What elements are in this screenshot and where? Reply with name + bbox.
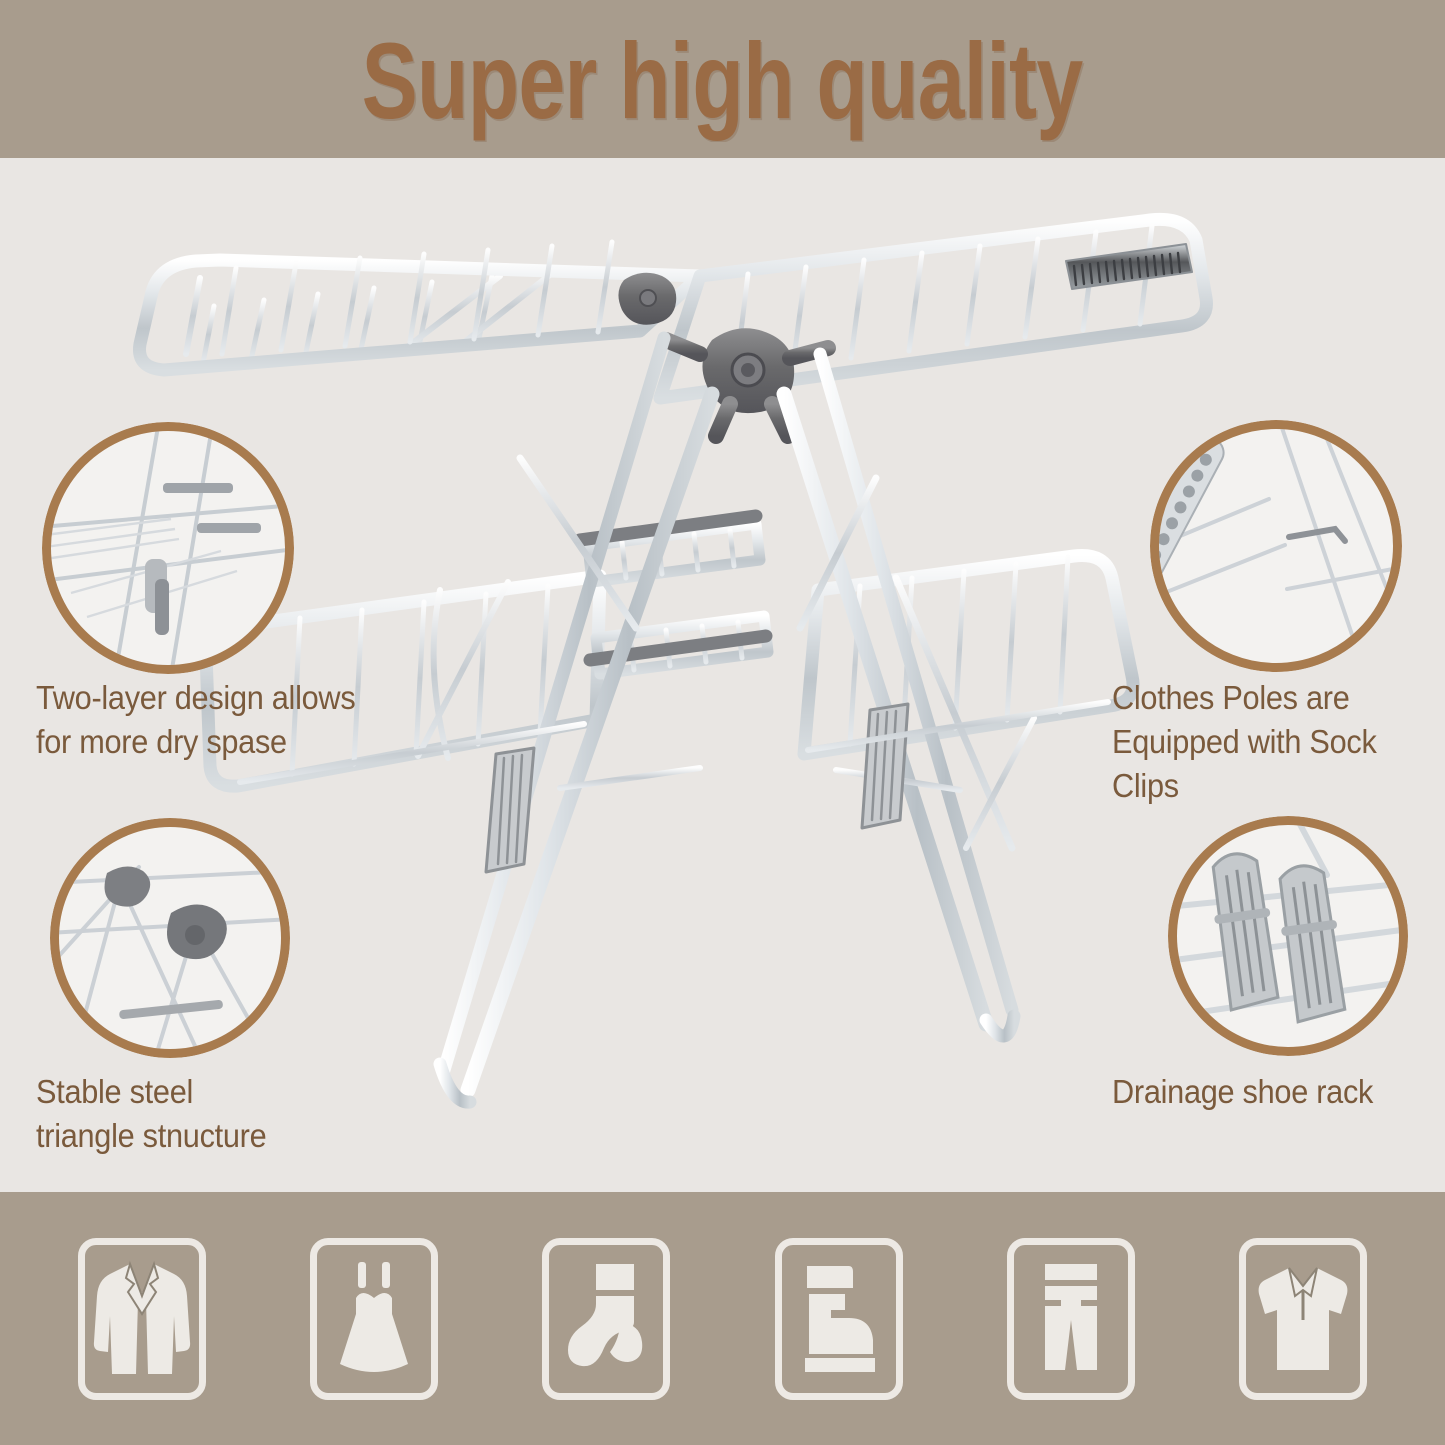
header-band: Super high quality bbox=[0, 0, 1445, 158]
caption-two-layer-design: Two-layer design allows for more dry spa… bbox=[36, 676, 371, 764]
callout-image-sock-clips-pole bbox=[1159, 429, 1393, 663]
shoe-rack-left bbox=[486, 748, 534, 872]
garment-tile-sock bbox=[542, 1238, 670, 1400]
pants-icon bbox=[1019, 1256, 1123, 1382]
garment-tile-boot bbox=[775, 1238, 903, 1400]
garment-tile-coat bbox=[78, 1238, 206, 1400]
callout-two-layer-design bbox=[42, 422, 294, 674]
callout-image-triangle-joint bbox=[59, 827, 281, 1049]
infographic-page: Super high quality bbox=[0, 0, 1445, 1445]
callout-image-two-layer-rails bbox=[51, 431, 285, 665]
garment-tile-pants bbox=[1007, 1238, 1135, 1400]
garment-tile-polo bbox=[1239, 1238, 1367, 1400]
coat-icon bbox=[90, 1256, 194, 1382]
page-title: Super high quality bbox=[362, 27, 1083, 135]
caption-shoe-rack: Drainage shoe rack bbox=[1112, 1070, 1428, 1114]
callout-steel-triangle bbox=[50, 818, 290, 1058]
callout-sock-clips bbox=[1150, 420, 1402, 672]
polo-shirt-icon bbox=[1251, 1256, 1355, 1382]
dress-icon bbox=[322, 1256, 426, 1382]
caption-sock-clips: Clothes Poles are Equipped with Sock Cli… bbox=[1112, 676, 1428, 808]
callout-image-drainage-shoe-rack bbox=[1177, 825, 1399, 1047]
garment-icon-strip bbox=[0, 1192, 1445, 1445]
main-stage: Two-layer design allows for more dry spa… bbox=[0, 158, 1445, 1192]
caption-steel-triangle: Stable steel triangle stnucture bbox=[36, 1070, 352, 1158]
shoe-rack-right bbox=[862, 704, 908, 828]
boot-icon bbox=[787, 1256, 891, 1382]
sock-icon bbox=[554, 1256, 658, 1382]
sock-clips-strip-overlay bbox=[1066, 244, 1192, 289]
garment-tile-dress bbox=[310, 1238, 438, 1400]
callout-shoe-rack bbox=[1168, 816, 1408, 1056]
